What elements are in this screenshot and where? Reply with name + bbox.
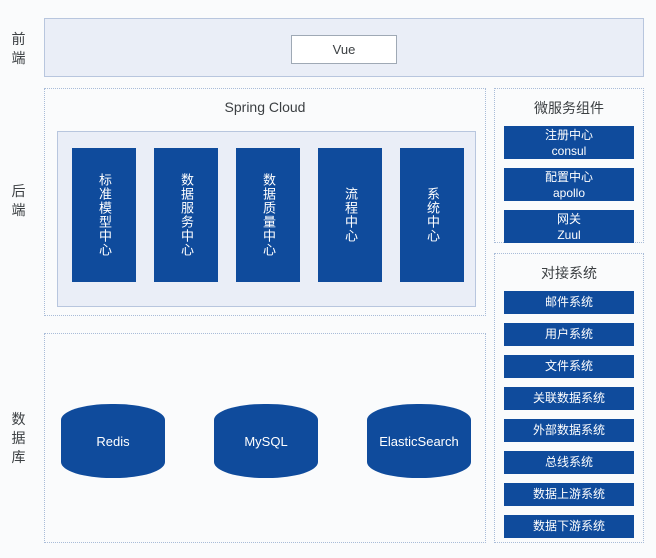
row-label-frontend-char-0: 前: [0, 30, 38, 49]
microservice-item-title: 网关: [504, 211, 634, 227]
integration-systems-list: 邮件系统 用户系统 文件系统 关联数据系统 外部数据系统 总线系统 数据上游系统…: [495, 291, 643, 538]
row-label-database: 数 据 库: [0, 410, 38, 467]
frontend-panel: Vue: [44, 18, 644, 77]
microservice-item-title: 配置中心: [504, 169, 634, 185]
database-store-label: ElasticSearch: [379, 434, 458, 449]
service-center-label: 流程中心: [341, 187, 359, 243]
microservice-item-config[interactable]: 配置中心 apollo: [504, 168, 634, 201]
row-label-backend: 后 端: [0, 182, 38, 220]
row-label-frontend: 前 端: [0, 30, 38, 68]
service-center-label: 系统中心: [423, 187, 441, 243]
row-label-backend-char-0: 后: [0, 182, 38, 201]
integration-item-external-data[interactable]: 外部数据系统: [504, 419, 634, 442]
integration-systems-title: 对接系统: [495, 254, 643, 291]
database-store-label: MySQL: [244, 434, 287, 449]
integration-item-linked-data[interactable]: 关联数据系统: [504, 387, 634, 410]
row-label-database-char-1: 据: [0, 429, 38, 448]
architecture-diagram: 前 端 后 端 数 据 库 Vue Spring Cloud 标准模型中心 数据…: [0, 0, 656, 558]
microservice-item-subtitle: consul: [504, 143, 634, 159]
service-center-label: 标准模型中心: [95, 173, 113, 257]
row-label-database-char-2: 库: [0, 448, 38, 467]
microservice-item-subtitle: Zuul: [504, 227, 634, 243]
microservice-components-list: 注册中心 consul 配置中心 apollo 网关 Zuul: [495, 126, 643, 243]
frontend-node-vue[interactable]: Vue: [291, 35, 397, 64]
spring-cloud-title: Spring Cloud: [45, 99, 485, 115]
spring-cloud-panel: Spring Cloud 标准模型中心 数据服务中心 数据质量中心 流程中心 系…: [44, 88, 486, 316]
service-center-standard-model[interactable]: 标准模型中心: [72, 148, 136, 282]
database-store-mysql[interactable]: MySQL: [214, 404, 318, 478]
database-panel: Redis MySQL ElasticSearch: [44, 333, 486, 543]
microservice-components-title: 微服务组件: [495, 89, 643, 126]
microservice-item-gateway[interactable]: 网关 Zuul: [504, 210, 634, 243]
spring-cloud-inner-container: 标准模型中心 数据服务中心 数据质量中心 流程中心 系统中心: [57, 131, 476, 307]
database-store-redis[interactable]: Redis: [61, 404, 165, 478]
service-center-list: 标准模型中心 数据服务中心 数据质量中心 流程中心 系统中心: [72, 148, 464, 282]
integration-item-file[interactable]: 文件系统: [504, 355, 634, 378]
microservice-components-panel: 微服务组件 注册中心 consul 配置中心 apollo 网关 Zuul: [494, 88, 644, 243]
integration-item-bus[interactable]: 总线系统: [504, 451, 634, 474]
row-label-backend-char-1: 端: [0, 201, 38, 220]
service-center-data-quality[interactable]: 数据质量中心: [236, 148, 300, 282]
integration-item-mail[interactable]: 邮件系统: [504, 291, 634, 314]
service-center-process[interactable]: 流程中心: [318, 148, 382, 282]
microservice-item-registry[interactable]: 注册中心 consul: [504, 126, 634, 159]
microservice-item-title: 注册中心: [504, 127, 634, 143]
row-label-frontend-char-1: 端: [0, 49, 38, 68]
database-store-label: Redis: [96, 434, 129, 449]
integration-item-user[interactable]: 用户系统: [504, 323, 634, 346]
integration-item-upstream-data[interactable]: 数据上游系统: [504, 483, 634, 506]
service-center-label: 数据服务中心: [177, 173, 195, 257]
integration-systems-panel: 对接系统 邮件系统 用户系统 文件系统 关联数据系统 外部数据系统 总线系统 数…: [494, 253, 644, 543]
integration-item-downstream-data[interactable]: 数据下游系统: [504, 515, 634, 538]
database-store-list: Redis MySQL ElasticSearch: [61, 404, 471, 478]
microservice-item-subtitle: apollo: [504, 185, 634, 201]
row-label-database-char-0: 数: [0, 410, 38, 429]
service-center-label: 数据质量中心: [259, 173, 277, 257]
service-center-system[interactable]: 系统中心: [400, 148, 464, 282]
database-store-elasticsearch[interactable]: ElasticSearch: [367, 404, 471, 478]
service-center-data-service[interactable]: 数据服务中心: [154, 148, 218, 282]
